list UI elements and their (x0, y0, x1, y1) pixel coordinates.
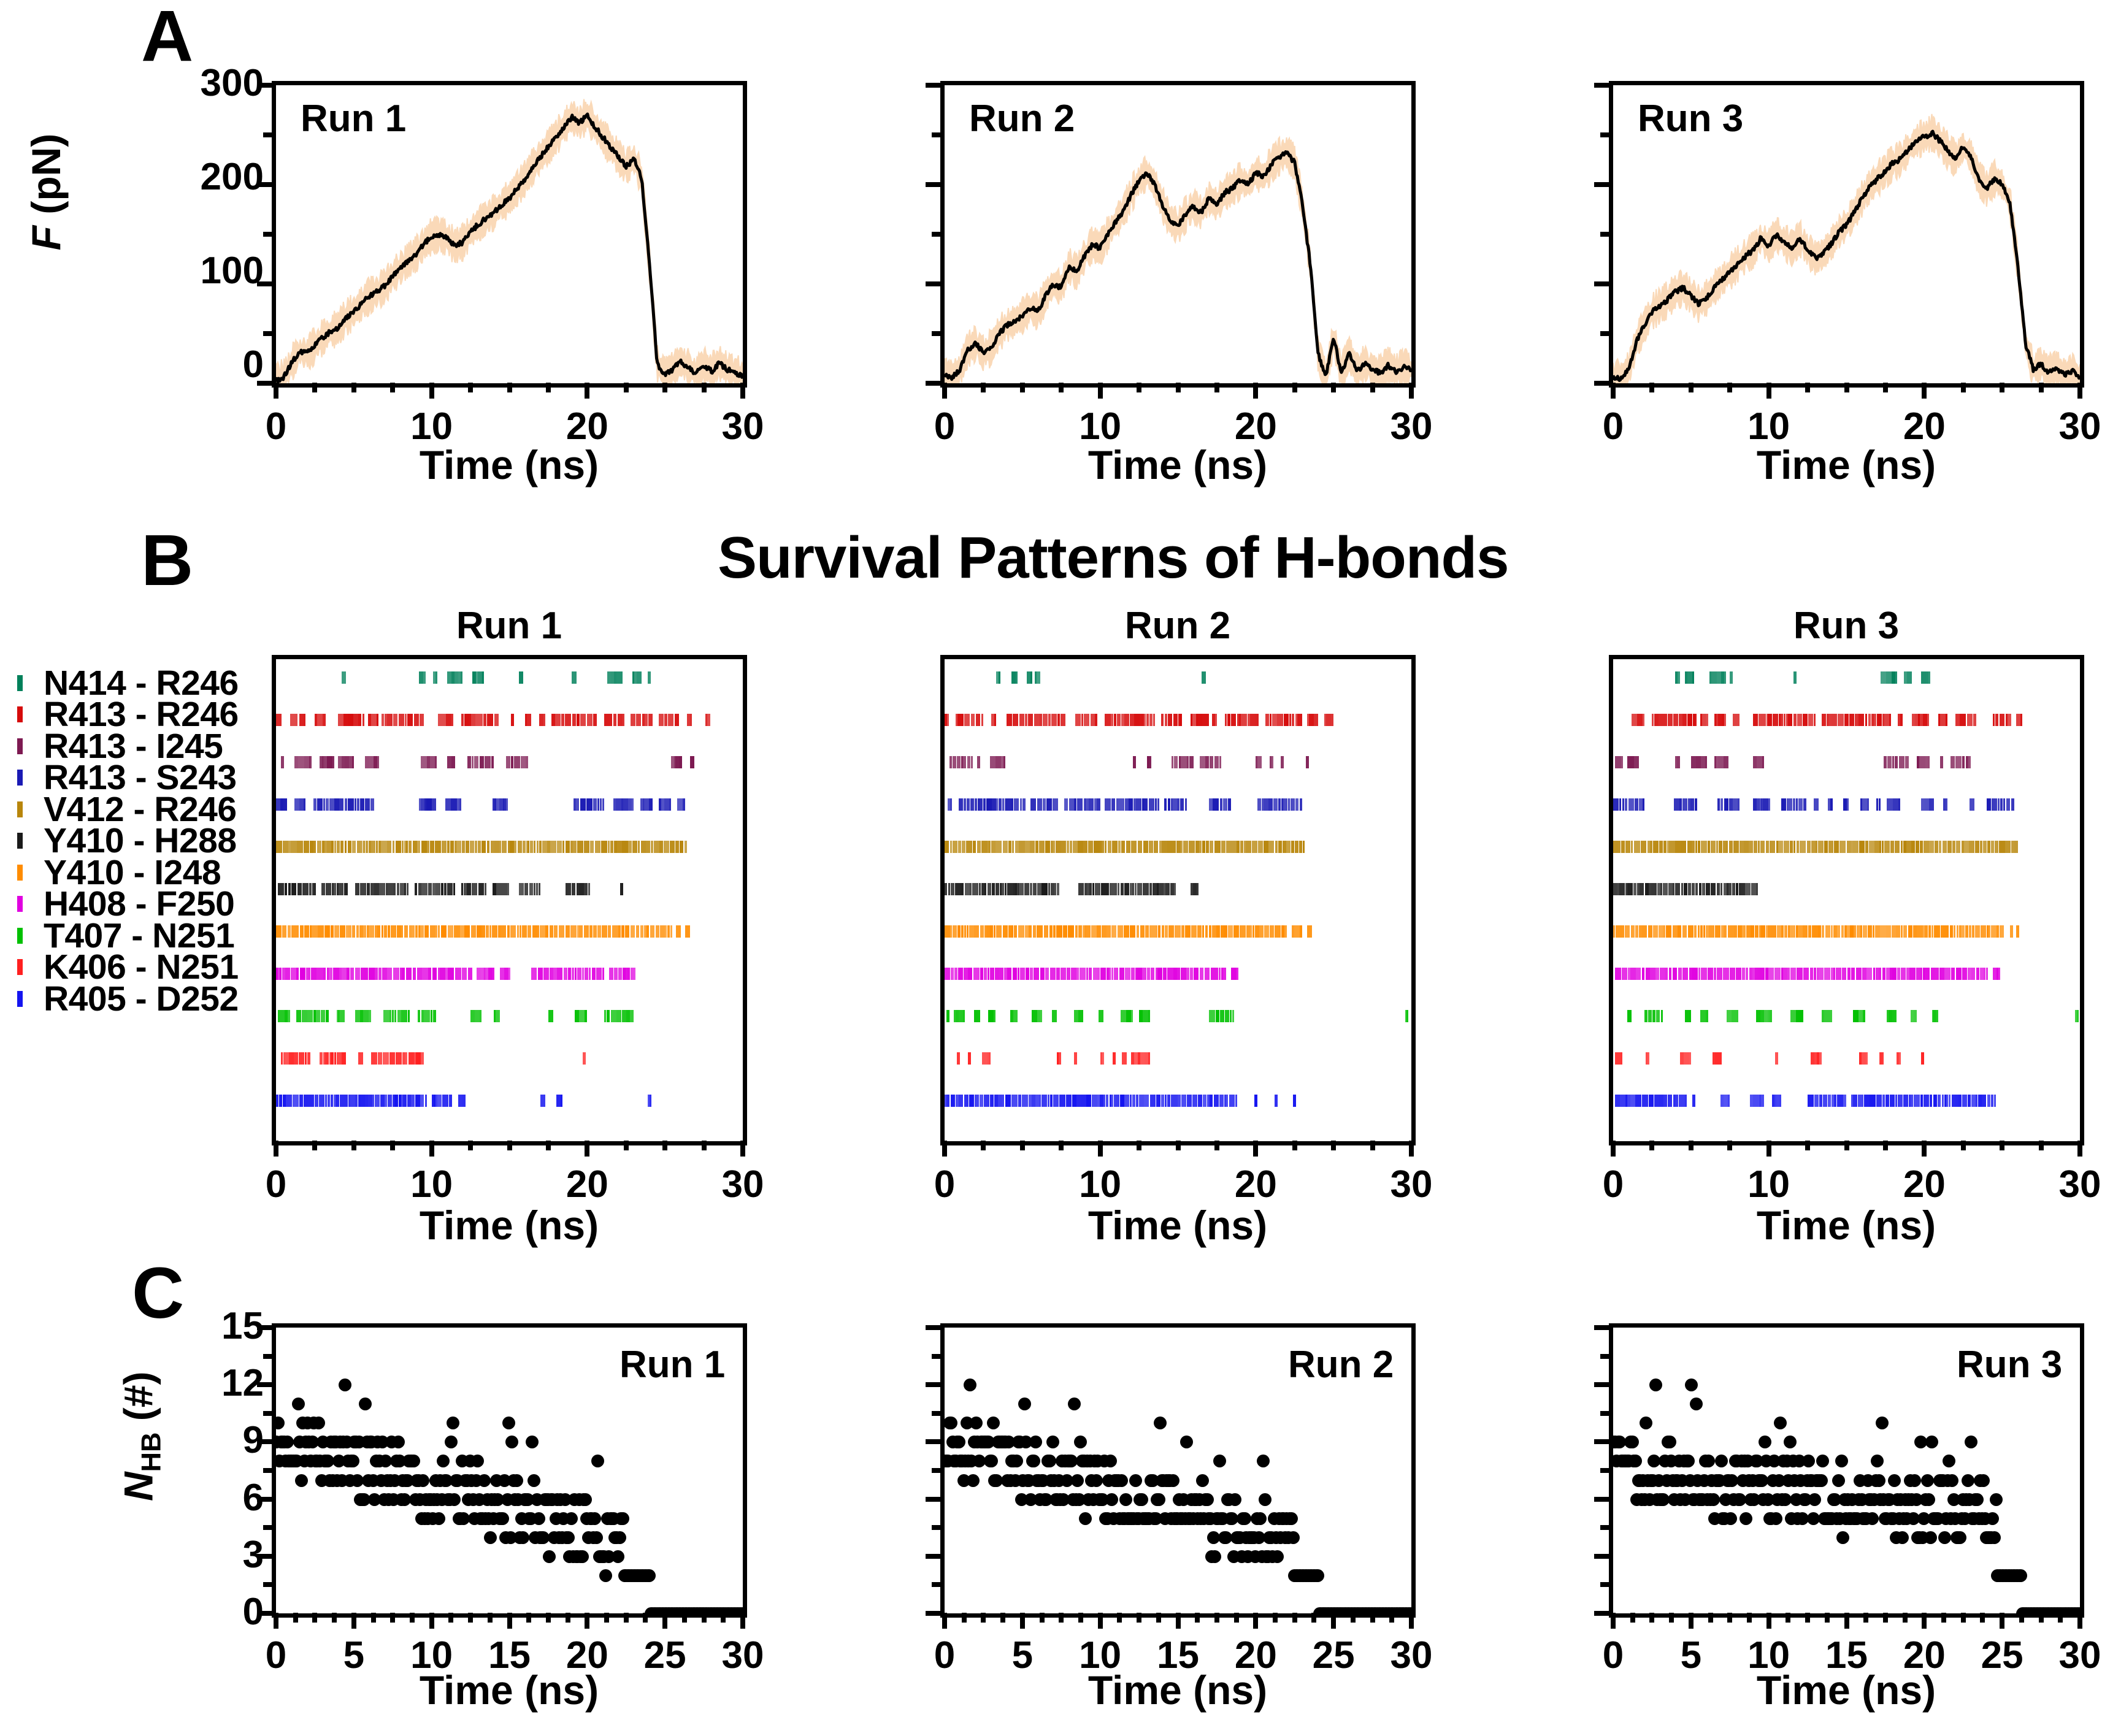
raster-bar (289, 1052, 293, 1065)
panel-c-xtick-mark (1117, 1613, 1122, 1623)
raster-bar (281, 1052, 283, 1065)
panel-c-xtick-mark (1766, 1613, 1771, 1629)
raster-bar (1793, 671, 1797, 684)
raster-bar (628, 841, 632, 853)
panel-c-ytick-mark (1600, 1582, 1610, 1587)
raster-bar (1630, 1095, 1635, 1107)
panel-c-ytick-label: 6 (153, 1476, 264, 1520)
raster-bar (1214, 841, 1221, 853)
scatter-point (1740, 1512, 1752, 1525)
raster-bar (467, 883, 470, 895)
raster-bar (1137, 968, 1142, 980)
raster-bar (1097, 925, 1101, 938)
scatter-point (1908, 1474, 1921, 1487)
raster-bar (648, 714, 653, 726)
raster-bar (1020, 968, 1025, 980)
raster-bar (1037, 925, 1043, 938)
scatter-point (1079, 1512, 1092, 1525)
raster-bar (422, 968, 428, 980)
raster-bar (1200, 756, 1205, 768)
raster-bar (959, 798, 963, 811)
raster-bar (676, 925, 681, 938)
raster-bar (1025, 925, 1029, 938)
raster-bar (566, 841, 570, 853)
raster-bar (321, 1010, 325, 1022)
raster-bar (1690, 798, 1694, 811)
raster-bar (2000, 925, 2004, 938)
raster-bar (1946, 1095, 1948, 1107)
raster-bar (1149, 883, 1153, 895)
raster-bar (481, 925, 485, 938)
scatter-point (1888, 1474, 1901, 1487)
raster-bar (1886, 968, 1890, 980)
raster-bar (409, 841, 412, 853)
raster-bar (996, 798, 998, 811)
raster-bar (1630, 756, 1634, 768)
raster-bar (408, 1010, 410, 1022)
raster-bar (1907, 671, 1912, 684)
raster-bar (1841, 925, 1844, 938)
raster-bar (1210, 1095, 1213, 1107)
panel-b-xtick-mark (1331, 1141, 1336, 1150)
raster-bar (1895, 841, 1900, 853)
raster-bar (433, 1010, 436, 1022)
raster-row-y410---h288 (945, 883, 1411, 895)
panel-c-xtick-mark (312, 1613, 317, 1623)
raster-row-r413---r246 (276, 714, 743, 726)
raster-bar (371, 841, 375, 853)
raster-bar (1721, 925, 1724, 938)
raster-bar (1847, 798, 1849, 811)
raster-bar (1753, 1095, 1758, 1107)
raster-bar (542, 841, 547, 853)
scatter-point (1990, 1493, 2003, 1506)
raster-bar (1819, 1095, 1822, 1107)
panel-a-xtick-mark (1961, 383, 1966, 392)
raster-bar (300, 968, 305, 980)
raster-bar (1306, 756, 1309, 768)
raster-bar (441, 925, 447, 938)
raster-bar (1744, 925, 1746, 938)
panel-b-xtick-mark (312, 1141, 317, 1150)
panel-a-xtick-mark (1922, 383, 1927, 399)
raster-bar (1113, 1052, 1116, 1065)
raster-bar (959, 1095, 963, 1107)
raster-bar (978, 1010, 981, 1022)
raster-bar (625, 925, 629, 938)
raster-bar (551, 714, 555, 726)
scatter-point (1921, 1474, 1934, 1487)
panel-c-xtick-mark (643, 1613, 648, 1623)
raster-bar (332, 756, 334, 768)
panel-c-xtick-mark (390, 1613, 395, 1623)
raster-bar (1808, 1095, 1814, 1107)
panel-a-xtick-mark (1253, 383, 1258, 399)
raster-bar (1858, 1095, 1863, 1107)
raster-bar (478, 883, 484, 895)
raster-bar (487, 714, 493, 726)
raster-bar (1170, 883, 1174, 895)
raster-bar (291, 841, 296, 853)
scatter-point (1946, 1474, 1958, 1487)
raster-bar (1228, 798, 1231, 811)
raster-bar (572, 883, 575, 895)
raster-bar (394, 1095, 398, 1107)
panel-b-xtick-mark (468, 1141, 473, 1150)
raster-bar (296, 714, 297, 726)
raster-bar (344, 883, 348, 895)
panel-letter-b: B (141, 524, 192, 597)
raster-bar (1089, 968, 1092, 980)
raster-bar (1797, 968, 1803, 980)
scatter-point (1871, 1455, 1884, 1467)
raster-row-v412---r246 (1613, 841, 2080, 853)
raster-bar (1730, 671, 1733, 684)
panel-c-x-axis-title-run1: Time (ns) (386, 1667, 632, 1713)
raster-bar (1868, 714, 1871, 726)
scatter-point (1180, 1436, 1193, 1448)
raster-bar (1002, 798, 1004, 811)
panel-c-xtick-mark (488, 1613, 493, 1623)
raster-bar (1628, 798, 1634, 811)
raster-bar (1962, 968, 1967, 980)
raster-bar (453, 883, 455, 895)
raster-bar (1663, 1095, 1667, 1107)
raster-bar (296, 1010, 301, 1022)
raster-bar (1793, 798, 1795, 811)
raster-bar (1210, 841, 1213, 853)
raster-bar (968, 1052, 971, 1065)
raster-bar (1928, 671, 1931, 684)
raster-bar (464, 714, 469, 726)
raster-bar (1268, 841, 1274, 853)
raster-bar (1688, 883, 1691, 895)
scatter-point (1119, 1493, 1132, 1506)
raster-bar (1675, 883, 1680, 895)
raster-bar (1986, 968, 1989, 980)
raster-bar (394, 1010, 396, 1022)
raster-bar (1181, 1095, 1187, 1107)
raster-bar (1803, 925, 1808, 938)
raster-bar (1119, 925, 1124, 938)
raster-bar (1235, 1095, 1237, 1107)
scatter-point (447, 1417, 459, 1429)
raster-bar (1877, 714, 1881, 726)
raster-bar (2020, 714, 2022, 726)
raster-bar (1177, 798, 1179, 811)
raster-bar (1701, 841, 1707, 853)
scatter-point (1808, 1493, 1821, 1506)
raster-bar (1703, 925, 1705, 938)
raster-bar (579, 1010, 584, 1022)
raster-bar (1847, 841, 1851, 853)
raster-bar (1881, 671, 1885, 684)
raster-bar (1924, 968, 1930, 980)
raster-bar (675, 841, 679, 853)
raster-bar (286, 1095, 292, 1107)
raster-bar (986, 798, 991, 811)
raster-bar (1773, 714, 1778, 726)
raster-bar (1946, 798, 1947, 811)
panel-c-ytick-mark (932, 1525, 942, 1530)
raster-bar (1724, 925, 1727, 938)
scatter-point (1115, 1474, 1128, 1487)
raster-bar (1781, 798, 1786, 811)
raster-bar (1153, 714, 1155, 726)
raster-bar (1246, 925, 1250, 938)
raster-row-r405---d252 (945, 1095, 1411, 1107)
raster-row-r413---i245 (1613, 756, 2080, 768)
panel-a-xtick-mark (1689, 383, 1693, 392)
raster-bar (995, 883, 999, 895)
raster-bar (539, 883, 540, 895)
raster-bar (612, 925, 618, 938)
panel-b-xtick-mark (1844, 1141, 1849, 1150)
raster-bar (1233, 925, 1239, 938)
raster-bar (1198, 1095, 1202, 1107)
raster-bar (595, 841, 600, 853)
raster-bar (1727, 1010, 1731, 1022)
raster-bar (946, 1095, 949, 1107)
scatter-point (565, 1512, 578, 1525)
panel-b-xtick-mark (1689, 1141, 1693, 1150)
raster-bar (520, 925, 521, 938)
panel-a-x-axis-title-run3: Time (ns) (1724, 442, 1969, 488)
scatter-point (616, 1512, 629, 1525)
raster-bar (1178, 1095, 1181, 1107)
raster-bar (1613, 883, 1617, 895)
raster-bar (438, 925, 440, 938)
raster-bar (420, 1095, 424, 1107)
raster-bar (584, 841, 589, 853)
legend-color-swatch (17, 896, 23, 912)
raster-bar (589, 925, 593, 938)
panel-c-xtick-mark (702, 1613, 707, 1623)
panel-b-xtick-mark (1059, 1141, 1064, 1150)
raster-bar (1768, 968, 1774, 980)
raster-bar (631, 968, 633, 980)
raster-bar (984, 925, 986, 938)
raster-bar (1040, 714, 1041, 726)
raster-bar (487, 841, 489, 853)
scatter-point (1962, 1474, 1974, 1487)
raster-bar (961, 883, 964, 895)
raster-bar (1095, 714, 1097, 726)
raster-bar (423, 671, 426, 684)
raster-bar (514, 841, 516, 853)
raster-bar (534, 841, 535, 853)
raster-bar (975, 1095, 979, 1107)
panel-a-xtick-mark (507, 383, 512, 392)
raster-bar (1965, 925, 1968, 938)
scatter-point (437, 1455, 450, 1467)
raster-bar (611, 1010, 616, 1022)
raster-bar (656, 841, 659, 853)
panel-c-ytick-mark (257, 1439, 273, 1444)
scatter-point (1876, 1417, 1889, 1429)
raster-row-y410---i248 (945, 925, 1411, 938)
raster-bar (1278, 841, 1282, 853)
raster-bar (1186, 968, 1189, 980)
raster-bar (1124, 714, 1129, 726)
raster-bar (1935, 841, 1938, 853)
raster-bar (521, 756, 525, 768)
raster-bar (646, 925, 649, 938)
raster-bar (304, 1095, 308, 1107)
raster-bar (980, 925, 984, 938)
raster-bar (347, 968, 350, 980)
raster-bar (1011, 925, 1013, 938)
panel-a-xtick-label: 30 (688, 405, 798, 448)
raster-bar (1226, 841, 1230, 853)
raster-bar (1143, 883, 1149, 895)
raster-bar (588, 883, 590, 895)
raster-bar (1011, 671, 1016, 684)
raster-bar (1711, 671, 1717, 684)
raster-bar (1824, 968, 1830, 980)
raster-bar (1997, 925, 1998, 938)
raster-bar (1689, 1010, 1691, 1022)
raster-bar (413, 841, 417, 853)
raster-bar (1741, 883, 1745, 895)
raster-bar (981, 714, 984, 726)
raster-bar (1126, 1010, 1131, 1022)
raster-bar (1185, 925, 1191, 938)
scatter-point (1254, 1512, 1267, 1525)
scatter-point (1724, 1512, 1737, 1525)
legend-color-swatch (17, 991, 23, 1007)
raster-bar (1246, 841, 1251, 853)
scatter-point (591, 1455, 604, 1467)
raster-bar (1224, 925, 1227, 938)
panel-a-xtick-label: 0 (1558, 405, 1668, 448)
raster-bar (575, 1010, 579, 1022)
raster-bar (1075, 925, 1078, 938)
raster-bar (1847, 968, 1851, 980)
raster-bar (1895, 1010, 1897, 1022)
raster-bar (1944, 968, 1950, 980)
raster-bar (368, 925, 374, 938)
raster-bar (311, 968, 316, 980)
raster-bar (1784, 714, 1786, 726)
panel-b-xtick-label: 0 (221, 1163, 331, 1206)
scatter-point (496, 1512, 509, 1525)
raster-bar (1092, 1095, 1098, 1107)
raster-bar (534, 883, 536, 895)
raster-bar (1884, 714, 1889, 726)
raster-bar (440, 968, 445, 980)
raster-bar (945, 968, 950, 980)
raster-bar (336, 1095, 339, 1107)
raster-bar (1038, 671, 1040, 684)
raster-bar (1075, 714, 1081, 726)
raster-bar (1895, 671, 1897, 684)
scatter-point (1977, 1474, 1990, 1487)
raster-bar (290, 714, 296, 726)
raster-bar (1035, 1095, 1039, 1107)
raster-bar (1862, 798, 1867, 811)
raster-bar (1655, 968, 1659, 980)
raster-bar (529, 883, 533, 895)
raster-bar (1006, 798, 1011, 811)
raster-bar (1093, 968, 1097, 980)
raster-bar (539, 714, 544, 726)
raster-bar (389, 1010, 391, 1022)
raster-bar (1679, 1095, 1685, 1107)
raster-bar (972, 883, 978, 895)
raster-bar (1870, 1095, 1876, 1107)
raster-bar (332, 883, 334, 895)
panel-c-ytick-mark (1600, 1468, 1610, 1473)
raster-bar (1952, 841, 1955, 853)
raster-bar (308, 1095, 313, 1107)
raster-bar (302, 883, 308, 895)
raster-bar (1958, 1095, 1962, 1107)
raster-bar (1255, 925, 1260, 938)
raster-bar (949, 756, 953, 768)
raster-row-r413---r246 (1613, 714, 2080, 726)
raster-bar (340, 925, 345, 938)
raster-bar (1819, 968, 1824, 980)
panel-c-ytick-mark (1594, 1382, 1610, 1387)
scatter-point (448, 1493, 461, 1506)
raster-bar (416, 1052, 421, 1065)
raster-bar (1045, 968, 1049, 980)
raster-bar (983, 798, 986, 811)
raster-bar (1283, 841, 1286, 853)
scatter-point (1018, 1398, 1031, 1410)
raster-bar (1921, 1052, 1924, 1065)
raster-bar (371, 1052, 375, 1065)
panel-c-xtick-mark (1611, 1613, 1616, 1629)
raster-bar (1131, 1010, 1133, 1022)
raster-bar (584, 883, 588, 895)
scatter-point (599, 1569, 612, 1582)
panel-a-xtick-mark (1727, 383, 1732, 392)
scatter-point (1208, 1550, 1221, 1563)
raster-bar (1866, 1052, 1868, 1065)
panel-c-ytick-mark (257, 1611, 273, 1616)
raster-bar (1818, 925, 1821, 938)
raster-bar (1755, 968, 1757, 980)
raster-bar (446, 714, 451, 726)
raster-bar (1740, 841, 1743, 853)
raster-bar (677, 798, 683, 811)
panel-c-ytick-mark (1594, 1325, 1610, 1330)
raster-bar (1969, 925, 1971, 938)
panel-c-ytick-mark (257, 1382, 273, 1387)
raster-bar (1165, 925, 1168, 938)
raster-bar (1227, 714, 1230, 726)
raster-bar (1642, 925, 1647, 938)
raster-bar (369, 756, 374, 768)
raster-bar (1682, 798, 1687, 811)
panel-b-xtick-label: 0 (889, 1163, 1000, 1206)
panel-c-xtick-mark (942, 1613, 947, 1629)
raster-bar (1755, 925, 1759, 938)
raster-bar (475, 714, 480, 726)
raster-bar (622, 1010, 626, 1022)
raster-bar (1702, 714, 1706, 726)
raster-bar (1943, 925, 1949, 938)
raster-bar (1991, 925, 1997, 938)
raster-bar (466, 841, 469, 853)
raster-bar (610, 841, 613, 853)
raster-bar (502, 841, 507, 853)
raster-bar (1751, 883, 1755, 895)
raster-bar (1620, 925, 1624, 938)
scatter-point (295, 1474, 308, 1487)
